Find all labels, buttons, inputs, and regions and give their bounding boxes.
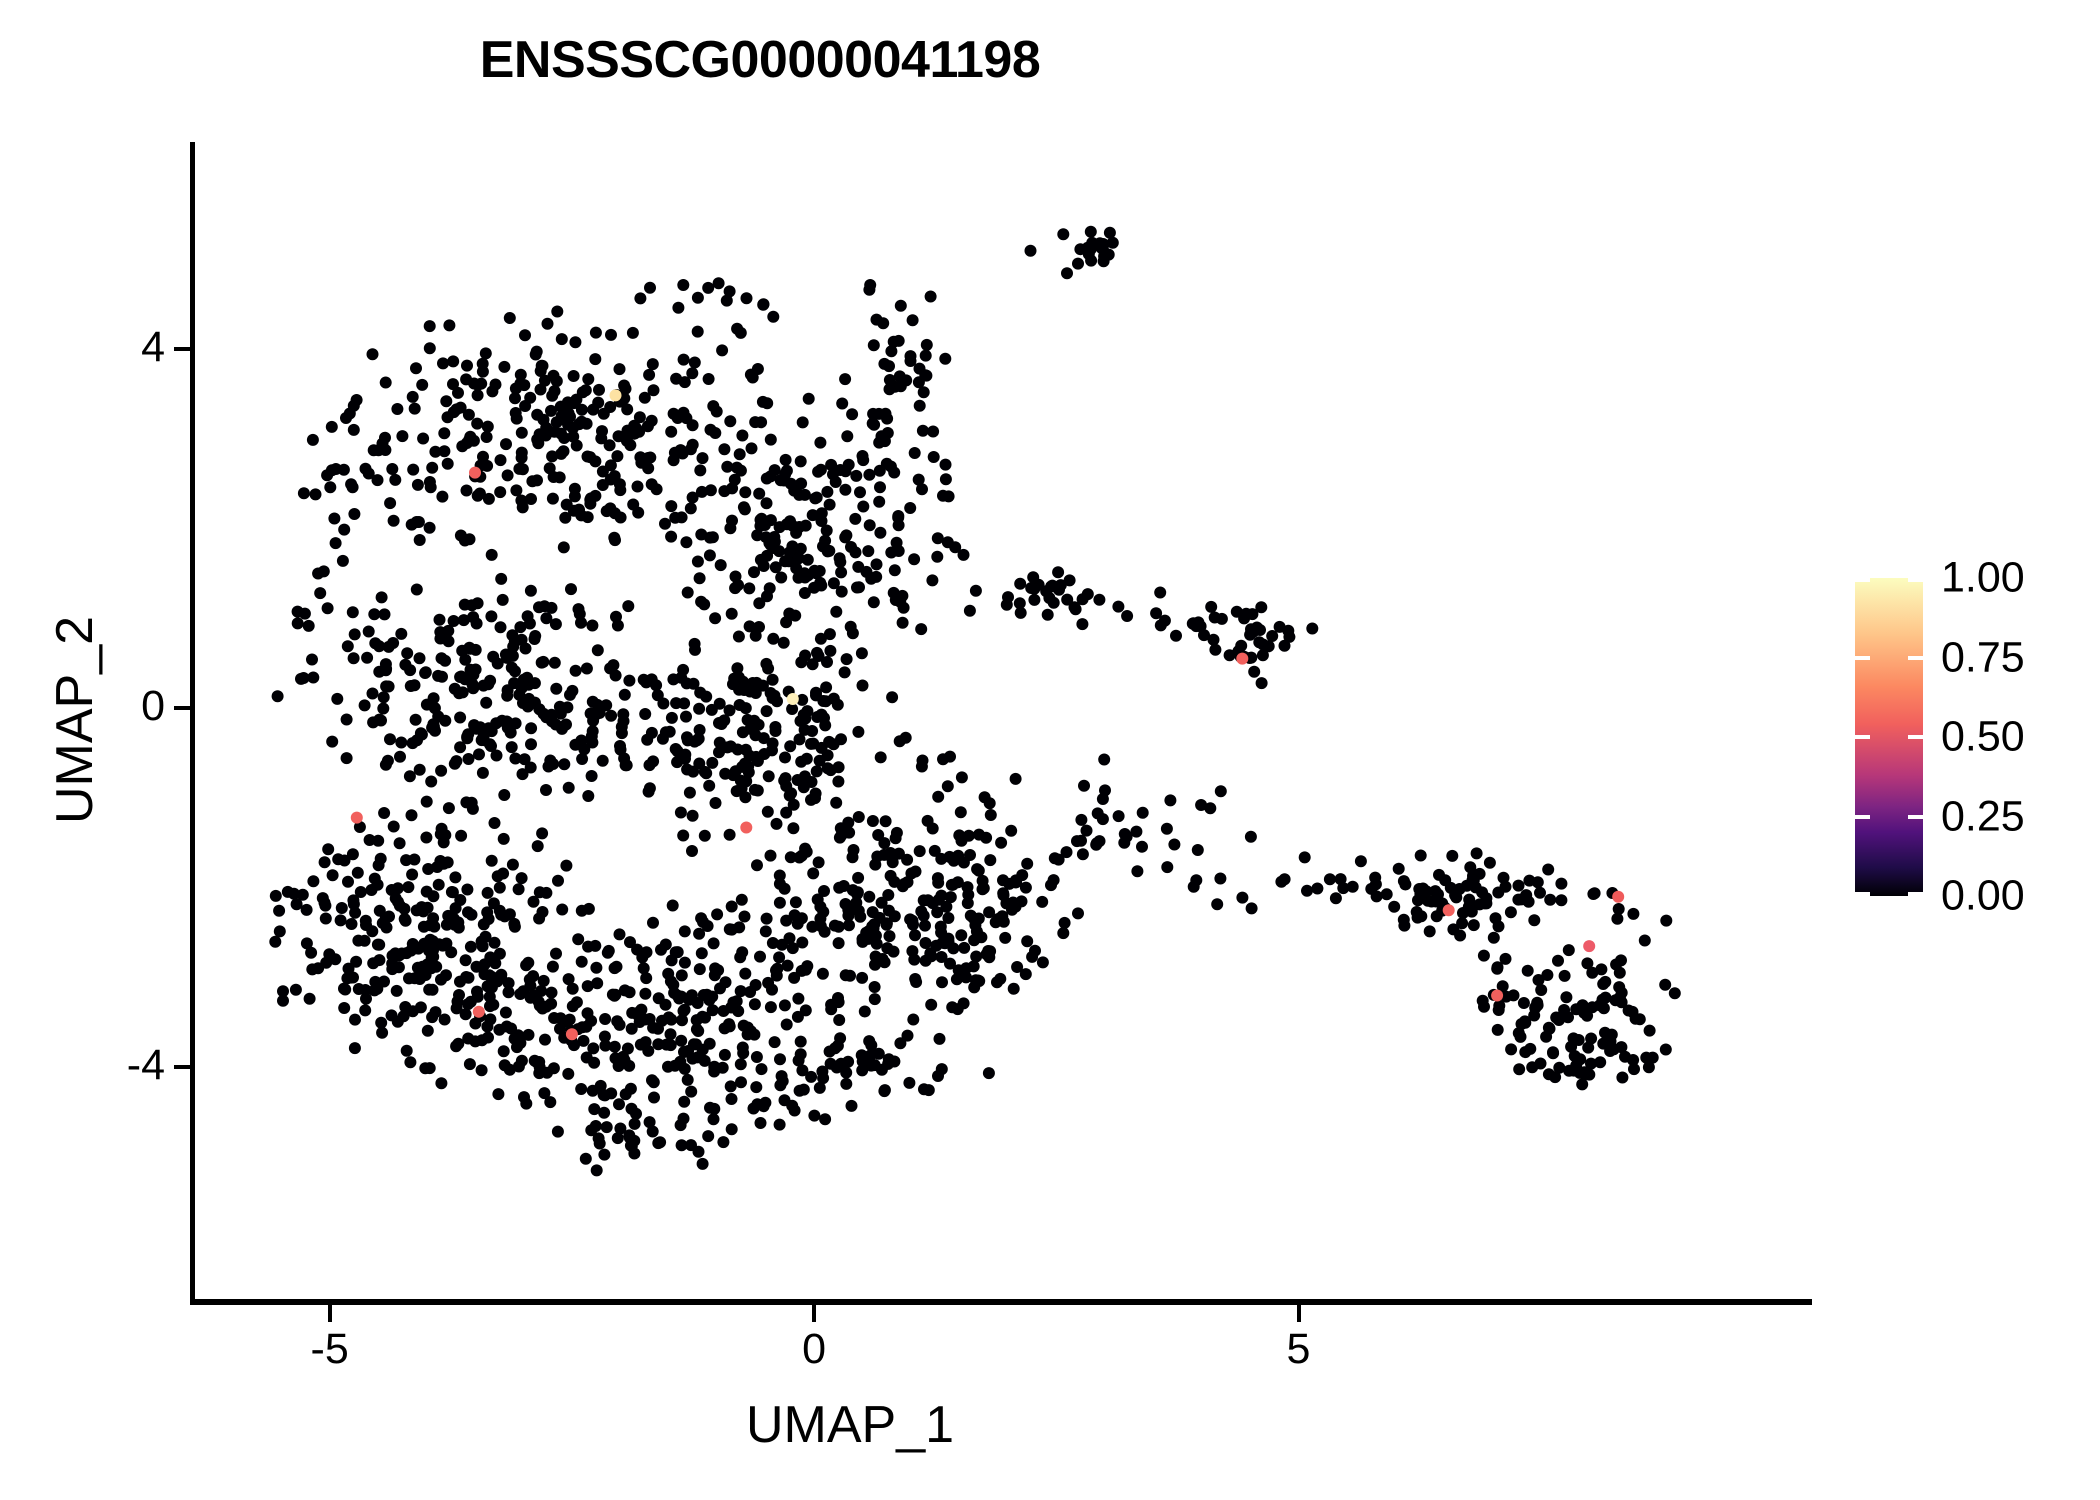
scatter-point	[711, 908, 723, 920]
scatter-point	[615, 744, 627, 756]
scatter-point	[673, 993, 685, 1005]
scatter-point	[964, 605, 976, 617]
scatter-point	[675, 1035, 687, 1047]
scatter-point	[498, 833, 510, 845]
scatter-point	[1085, 226, 1097, 238]
scatter-point	[1025, 245, 1037, 257]
highlighted-scatter-point	[1443, 904, 1455, 916]
scatter-point	[1535, 984, 1547, 996]
scatter-point	[925, 999, 937, 1011]
scatter-point	[842, 904, 854, 916]
scatter-point	[1644, 1025, 1656, 1037]
scatter-point	[749, 416, 761, 428]
scatter-point	[761, 705, 773, 717]
scatter-point	[1301, 885, 1313, 897]
scatter-point	[872, 829, 884, 841]
scatter-point	[550, 618, 562, 630]
scatter-point	[940, 459, 952, 471]
scatter-point	[678, 407, 690, 419]
scatter-point	[476, 1064, 488, 1076]
scatter-point	[894, 370, 906, 382]
scatter-point	[836, 398, 848, 410]
scatter-point	[642, 452, 654, 464]
scatter-point	[443, 319, 455, 331]
scatter-point	[340, 412, 352, 424]
scatter-point	[710, 797, 722, 809]
scatter-point	[817, 968, 829, 980]
scatter-point	[510, 383, 522, 395]
scatter-point	[582, 373, 594, 385]
scatter-point	[400, 915, 412, 927]
scatter-point	[1049, 852, 1061, 864]
scatter-point	[1248, 666, 1260, 678]
scatter-point	[1449, 889, 1461, 901]
scatter-point	[703, 373, 715, 385]
scatter-point	[821, 486, 833, 498]
scatter-point	[687, 439, 699, 451]
scatter-point	[1524, 1043, 1536, 1055]
scatter-point	[729, 474, 741, 486]
scatter-point	[1021, 935, 1033, 947]
scatter-point	[1555, 878, 1567, 890]
scatter-point	[697, 1158, 709, 1170]
scatter-point	[1324, 873, 1336, 885]
scatter-point	[816, 507, 828, 519]
scatter-point	[739, 681, 751, 693]
scatter-point	[734, 699, 746, 711]
scatter-point	[852, 726, 864, 738]
scatter-point	[341, 714, 353, 726]
scatter-point	[1594, 1056, 1606, 1068]
scatter-point	[936, 1063, 948, 1075]
scatter-point	[756, 1063, 768, 1075]
scatter-point	[351, 394, 363, 406]
scatter-point	[1477, 995, 1489, 1007]
scatter-point	[856, 647, 868, 659]
scatter-point	[560, 719, 572, 731]
colorbar-tick-mark	[1855, 735, 1923, 739]
scatter-point	[380, 377, 392, 389]
scatter-point	[653, 992, 665, 1004]
scatter-point	[514, 621, 526, 633]
scatter-point	[979, 791, 991, 803]
scatter-point	[436, 652, 448, 664]
scatter-point	[676, 969, 688, 981]
scatter-point	[619, 984, 631, 996]
scatter-point	[702, 282, 714, 294]
scatter-point	[830, 606, 842, 618]
scatter-point	[500, 1007, 512, 1019]
scatter-point	[968, 912, 980, 924]
scatter-point	[1599, 976, 1611, 988]
scatter-point	[644, 282, 656, 294]
scatter-point	[437, 357, 449, 369]
scatter-point	[904, 502, 916, 514]
scatter-point	[1311, 883, 1323, 895]
scatter-point	[1078, 780, 1090, 792]
scatter-point	[678, 354, 690, 366]
scatter-point	[484, 1000, 496, 1012]
scatter-point	[871, 314, 883, 326]
scatter-point	[455, 830, 467, 842]
scatter-point	[995, 837, 1007, 849]
scatter-point	[460, 954, 472, 966]
scatter-point	[1187, 617, 1199, 629]
scatter-point	[1057, 228, 1069, 240]
scatter-point	[711, 406, 723, 418]
scatter-point	[298, 672, 310, 684]
scatter-point	[469, 1018, 481, 1030]
scatter-point	[379, 432, 391, 444]
scatter-point	[1007, 897, 1019, 909]
scatter-point	[378, 807, 390, 819]
scatter-point	[719, 1022, 731, 1034]
scatter-point	[1611, 913, 1623, 925]
scatter-point	[519, 329, 531, 341]
scatter-point	[421, 886, 433, 898]
scatter-point	[833, 882, 845, 894]
scatter-point	[424, 342, 436, 354]
scatter-point	[679, 925, 691, 937]
scatter-point	[885, 870, 897, 882]
scatter-point	[743, 582, 755, 594]
scatter-point	[847, 627, 859, 639]
scatter-point	[639, 1014, 651, 1026]
scatter-point	[556, 333, 568, 345]
scatter-point	[1053, 584, 1065, 596]
scatter-point	[1526, 1061, 1538, 1073]
scatter-point	[632, 507, 644, 519]
y-axis-line	[190, 142, 195, 1305]
scatter-point	[692, 1051, 704, 1063]
scatter-point	[331, 693, 343, 705]
colorbar-tick-mark	[1855, 578, 1923, 582]
scatter-point	[481, 431, 493, 443]
scatter-point	[648, 1076, 660, 1088]
scatter-point	[1236, 892, 1248, 904]
scatter-point	[842, 1056, 854, 1068]
scatter-point	[420, 666, 432, 678]
scatter-point	[383, 681, 395, 693]
scatter-point	[735, 1058, 747, 1070]
scatter-point	[1016, 869, 1028, 881]
scatter-point	[932, 872, 944, 884]
scatter-point	[780, 807, 792, 819]
scatter-point	[754, 951, 766, 963]
scatter-point	[885, 345, 897, 357]
scatter-point	[724, 415, 736, 427]
scatter-point	[761, 913, 773, 925]
scatter-point	[611, 450, 623, 462]
scatter-point	[668, 454, 680, 466]
scatter-point	[853, 581, 865, 593]
scatter-point	[1245, 623, 1257, 635]
scatter-point	[571, 996, 583, 1008]
scatter-point	[549, 385, 561, 397]
scatter-point	[516, 452, 528, 464]
scatter-point	[687, 766, 699, 778]
scatter-point	[585, 492, 597, 504]
scatter-point	[482, 980, 494, 992]
scatter-point	[870, 571, 882, 583]
scatter-point	[717, 1136, 729, 1148]
scatter-point	[577, 386, 589, 398]
scatter-point	[835, 566, 847, 578]
scatter-point	[682, 1074, 694, 1086]
scatter-point	[427, 912, 439, 924]
scatter-point	[860, 927, 872, 939]
scatter-point	[679, 957, 691, 969]
scatter-point	[958, 857, 970, 869]
scatter-point	[535, 384, 547, 396]
scatter-point	[876, 897, 888, 909]
scatter-point	[818, 885, 830, 897]
scatter-point	[886, 691, 898, 703]
scatter-point	[1256, 677, 1268, 689]
scatter-point	[402, 881, 414, 893]
scatter-point	[765, 850, 777, 862]
scatter-point	[1010, 773, 1022, 785]
colorbar-tick-label: 0.50	[1941, 713, 2025, 762]
scatter-point	[910, 976, 922, 988]
scatter-point	[1211, 898, 1223, 910]
scatter-point	[406, 869, 418, 881]
scatter-point	[546, 987, 558, 999]
scatter-point	[869, 993, 881, 1005]
scatter-point	[409, 972, 421, 984]
scatter-point	[359, 935, 371, 947]
scatter-point	[779, 999, 791, 1011]
scatter-point	[1299, 851, 1311, 863]
scatter-point	[319, 900, 331, 912]
plot-panel	[194, 142, 1812, 1301]
scatter-point	[931, 551, 943, 563]
scatter-point	[1214, 873, 1226, 885]
scatter-point	[833, 921, 845, 933]
scatter-point	[685, 1086, 697, 1098]
scatter-point	[700, 767, 712, 779]
scatter-point	[554, 701, 566, 713]
scatter-point	[719, 768, 731, 780]
scatter-point	[1113, 810, 1125, 822]
scatter-point	[677, 279, 689, 291]
scatter-point	[795, 656, 807, 668]
scatter-point	[830, 797, 842, 809]
scatter-point	[750, 1081, 762, 1093]
scatter-point	[983, 951, 995, 963]
scatter-point	[737, 1047, 749, 1059]
scatter-point	[348, 508, 360, 520]
scatter-point	[587, 696, 599, 708]
scatter-point	[1154, 587, 1166, 599]
scatter-point	[816, 709, 828, 721]
scatter-point	[820, 681, 832, 693]
scatter-point	[304, 993, 316, 1005]
scatter-point	[454, 712, 466, 724]
scatter-point	[440, 969, 452, 981]
scatter-point	[373, 859, 385, 871]
scatter-point	[951, 973, 963, 985]
x-tick-mark	[812, 1305, 816, 1322]
scatter-point	[525, 722, 537, 734]
x-tick-mark	[1297, 1305, 1301, 1322]
scatter-point	[679, 376, 691, 388]
scatter-point	[873, 496, 885, 508]
scatter-point	[914, 400, 926, 412]
scatter-point	[771, 818, 783, 830]
scatter-point	[429, 702, 441, 714]
scatter-point	[694, 687, 706, 699]
scatter-point	[749, 998, 761, 1010]
scatter-point	[614, 928, 626, 940]
scatter-point	[740, 775, 752, 787]
scatter-point	[936, 976, 948, 988]
scatter-point	[1061, 846, 1073, 858]
scatter-point	[1070, 603, 1082, 615]
scatter-point	[449, 758, 461, 770]
scatter-point	[735, 327, 747, 339]
scatter-point	[547, 961, 559, 973]
scatter-point	[1205, 601, 1217, 613]
scatter-point	[881, 458, 893, 470]
scatter-point	[850, 470, 862, 482]
scatter-point	[814, 755, 826, 767]
scatter-point	[531, 409, 543, 421]
scatter-point	[620, 1088, 632, 1100]
scatter-point	[381, 922, 393, 934]
scatter-point	[498, 789, 510, 801]
scatter-point	[968, 960, 980, 972]
scatter-point	[629, 428, 641, 440]
scatter-point	[359, 1004, 371, 1016]
scatter-point	[604, 662, 616, 674]
scatter-point	[910, 866, 922, 878]
scatter-point	[693, 1146, 705, 1158]
scatter-point	[338, 464, 350, 476]
scatter-point	[942, 912, 954, 924]
scatter-point	[1045, 879, 1057, 891]
scatter-point	[481, 1021, 493, 1033]
scatter-point	[725, 740, 737, 752]
scatter-point	[823, 545, 835, 557]
scatter-point	[1279, 640, 1291, 652]
scatter-point	[471, 961, 483, 973]
scatter-point	[694, 572, 706, 584]
scatter-point	[590, 327, 602, 339]
scatter-point	[410, 714, 422, 726]
scatter-point	[1057, 927, 1069, 939]
scatter-point	[525, 585, 537, 597]
scatter-point	[419, 1062, 431, 1074]
scatter-point	[623, 675, 635, 687]
scatter-point	[498, 1045, 510, 1057]
scatter-point	[619, 689, 631, 701]
scatter-point	[991, 976, 1003, 988]
scatter-point	[476, 936, 488, 948]
scatter-point	[452, 387, 464, 399]
scatter-point	[845, 541, 857, 553]
scatter-point	[341, 752, 353, 764]
scatter-point	[414, 652, 426, 664]
scatter-point	[716, 344, 728, 356]
scatter-point	[492, 658, 504, 670]
scatter-point	[564, 689, 576, 701]
scatter-point	[1616, 987, 1628, 999]
scatter-point	[1586, 1001, 1598, 1013]
scatter-point	[1604, 1045, 1616, 1057]
scatter-point	[1615, 954, 1627, 966]
scatter-point	[533, 703, 545, 715]
scatter-point	[777, 1075, 789, 1087]
scatter-point	[748, 566, 760, 578]
scatter-point	[411, 734, 423, 746]
scatter-point	[799, 489, 811, 501]
scatter-point	[643, 369, 655, 381]
scatter-point	[532, 840, 544, 852]
scatter-point	[905, 350, 917, 362]
scatter-point	[892, 510, 904, 522]
scatter-point	[694, 724, 706, 736]
scatter-point	[798, 709, 810, 721]
scatter-point	[593, 384, 605, 396]
scatter-point	[376, 1027, 388, 1039]
scatter-point	[907, 314, 919, 326]
scatter-point	[773, 951, 785, 963]
scatter-point	[908, 553, 920, 565]
scatter-point	[1330, 892, 1342, 904]
scatter-point	[761, 497, 773, 509]
scatter-point	[1037, 956, 1049, 968]
scatter-point	[565, 583, 577, 595]
scatter-point	[386, 963, 398, 975]
scatter-point	[400, 854, 412, 866]
scatter-point	[918, 1083, 930, 1095]
scatter-point	[1161, 861, 1173, 873]
scatter-point	[901, 854, 913, 866]
scatter-point	[891, 537, 903, 549]
scatter-point	[696, 947, 708, 959]
scatter-point	[774, 897, 786, 909]
scatter-point	[739, 968, 751, 980]
scatter-point	[549, 657, 561, 669]
scatter-point	[811, 492, 823, 504]
scatter-point	[322, 602, 334, 614]
scatter-point	[798, 1084, 810, 1096]
scatter-point	[852, 561, 864, 573]
scatter-point	[863, 284, 875, 296]
scatter-point	[835, 829, 847, 841]
scatter-point	[269, 936, 281, 948]
scatter-point	[591, 1164, 603, 1176]
scatter-point	[1547, 1047, 1559, 1059]
scatter-point	[730, 765, 742, 777]
scatter-point	[431, 861, 443, 873]
scatter-point	[1028, 594, 1040, 606]
scatter-point	[676, 1139, 688, 1151]
scatter-point	[1581, 957, 1593, 969]
scatter-point	[363, 468, 375, 480]
scatter-point	[800, 520, 812, 532]
scatter-point	[322, 843, 334, 855]
scatter-point	[751, 859, 763, 871]
scatter-point	[863, 1035, 875, 1047]
scatter-point	[874, 527, 886, 539]
scatter-point	[748, 1103, 760, 1115]
scatter-point	[713, 277, 725, 289]
scatter-point	[592, 397, 604, 409]
scatter-point	[270, 890, 282, 902]
scatter-point	[1563, 944, 1575, 956]
